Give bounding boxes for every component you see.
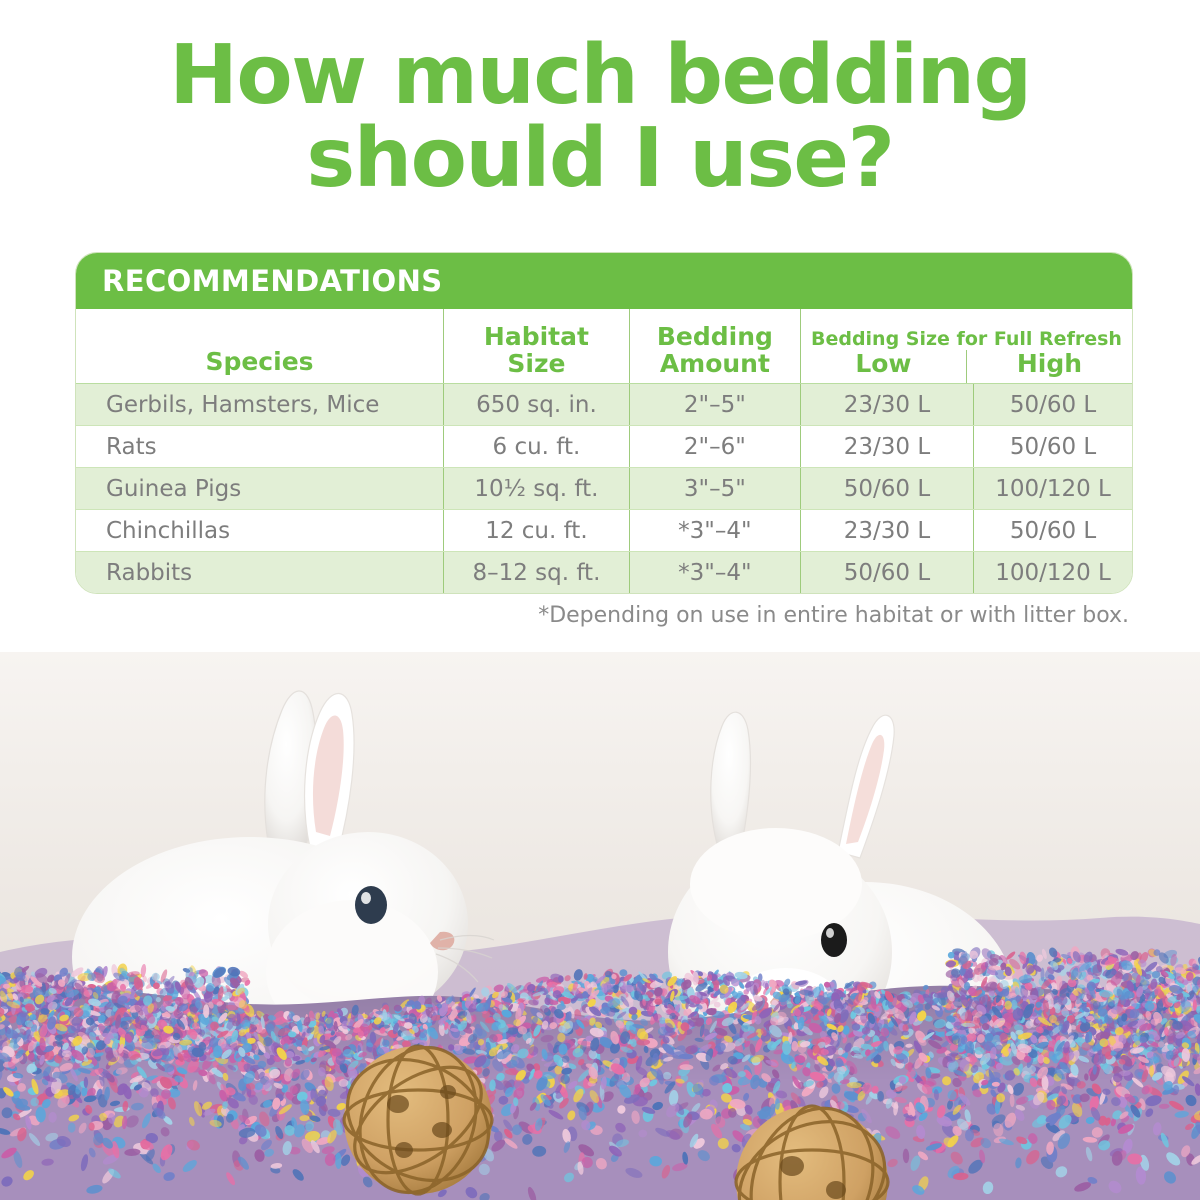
column-header-habitat-size-line-1: Habitat (444, 323, 629, 350)
recommendations-card-body: RECOMMENDATIONS Species Habitat Size (75, 252, 1133, 594)
column-header-low: Low (801, 350, 967, 383)
column-header-habitat-size: Habitat Size (444, 309, 630, 384)
cell-amount: 2"–5" (629, 384, 800, 426)
table-header-row: Species Habitat Size Bedding Amount (76, 309, 1132, 384)
table-row: Rabbits 8–12 sq. ft. *3"–4" 50/60 L 100/… (76, 552, 1132, 594)
column-header-habitat-size-line-2: Size (444, 350, 629, 377)
column-header-bedding-amount-label: Bedding Amount (630, 323, 800, 383)
cell-habitat: 10½ sq. ft. (444, 468, 630, 510)
rabbit-right-crown-fluff (690, 828, 862, 940)
cell-low: 23/30 L (800, 384, 973, 426)
cell-high: 50/60 L (974, 384, 1132, 426)
column-header-bedding-amount-line-1: Bedding (630, 323, 800, 350)
cell-habitat: 8–12 sq. ft. (444, 552, 630, 594)
column-header-high: High (967, 350, 1132, 383)
table-footnote: *Depending on use in entire habitat or w… (75, 594, 1133, 628)
rabbit-right-eye (821, 923, 847, 957)
bedding-field (0, 945, 1200, 1200)
column-header-species-label: Species (76, 348, 443, 383)
table-body: Gerbils, Hamsters, Mice 650 sq. in. 2"–5… (76, 384, 1132, 594)
cell-high: 50/60 L (974, 426, 1132, 468)
table-row: Rats 6 cu. ft. 2"–6" 23/30 L 50/60 L (76, 426, 1132, 468)
cell-low: 50/60 L (800, 468, 973, 510)
card-header: RECOMMENDATIONS (76, 253, 1132, 309)
cell-low: 50/60 L (800, 552, 973, 594)
column-header-species: Species (76, 309, 444, 384)
page-title-line-1: How much bedding (0, 34, 1200, 117)
table-row: Gerbils, Hamsters, Mice 650 sq. in. 2"–5… (76, 384, 1132, 426)
cell-amount: *3"–4" (629, 510, 800, 552)
recommendations-table: Species Habitat Size Bedding Amount (76, 309, 1132, 593)
column-header-habitat-size-label: Habitat Size (444, 323, 629, 383)
cell-species: Chinchillas (76, 510, 444, 552)
rabbit-left-eye-highlight (361, 892, 371, 904)
cell-high: 100/120 L (974, 552, 1132, 594)
rabbits-bedding-illustration (0, 652, 1200, 1200)
column-header-bedding-amount-line-2: Amount (630, 350, 800, 377)
cell-amount: 3"–5" (629, 468, 800, 510)
rabbit-right-eye-highlight (826, 928, 834, 938)
cell-habitat: 650 sq. in. (444, 384, 630, 426)
rabbit-left-eye (355, 886, 387, 924)
cell-species: Gerbils, Hamsters, Mice (76, 384, 444, 426)
cell-high: 50/60 L (974, 510, 1132, 552)
cell-amount: *3"–4" (629, 552, 800, 594)
cell-species: Rabbits (76, 552, 444, 594)
column-header-bedding-size-group-label: Bedding Size for Full Refresh (801, 320, 1132, 350)
table-header: Species Habitat Size Bedding Amount (76, 309, 1132, 384)
table-row: Guinea Pigs 10½ sq. ft. 3"–5" 50/60 L 10… (76, 468, 1132, 510)
cell-species: Guinea Pigs (76, 468, 444, 510)
rabbits-bedding-photo (0, 652, 1200, 1200)
cell-high: 100/120 L (974, 468, 1132, 510)
page-title: How much bedding should I use? (0, 0, 1200, 200)
page-title-line-2: should I use? (0, 117, 1200, 200)
card-header-title: RECOMMENDATIONS (102, 264, 443, 298)
column-header-bedding-size-group: Bedding Size for Full Refresh Low High (800, 309, 1132, 384)
column-header-bedding-amount: Bedding Amount (629, 309, 800, 384)
cell-habitat: 6 cu. ft. (444, 426, 630, 468)
cell-species: Rats (76, 426, 444, 468)
cell-low: 23/30 L (800, 510, 973, 552)
cell-amount: 2"–6" (629, 426, 800, 468)
cell-habitat: 12 cu. ft. (444, 510, 630, 552)
recommendations-card: RECOMMENDATIONS Species Habitat Size (75, 252, 1133, 628)
cell-low: 23/30 L (800, 426, 973, 468)
column-header-bedding-size-subgroup: Low High (801, 350, 1132, 383)
table-row: Chinchillas 12 cu. ft. *3"–4" 23/30 L 50… (76, 510, 1132, 552)
